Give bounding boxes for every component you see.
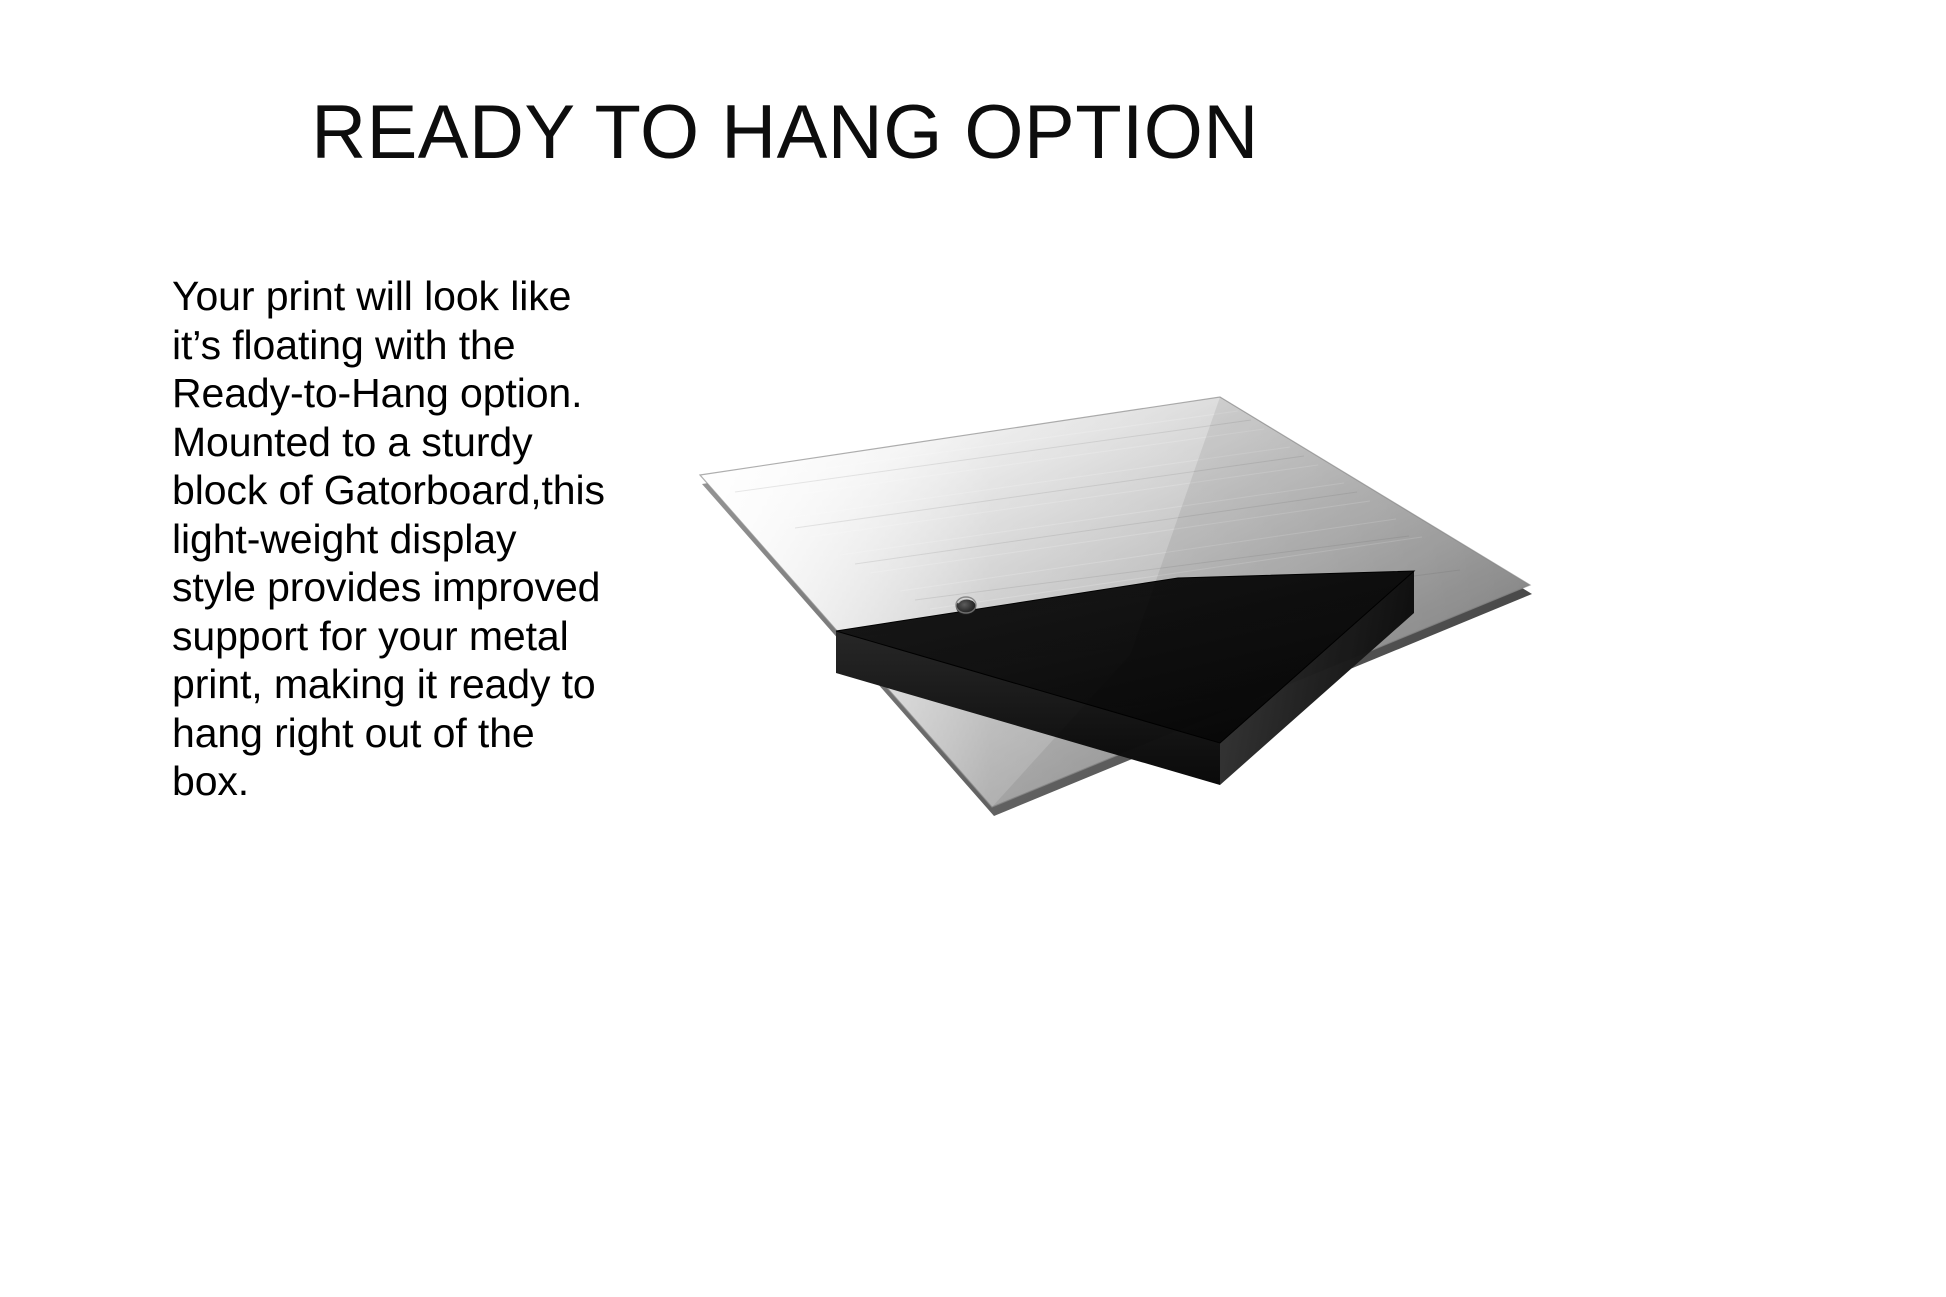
paragraph-line: box.: [172, 757, 642, 806]
slide-canvas: READY TO HANG OPTION Your print will loo…: [0, 0, 1946, 1297]
paragraph-line: support for your metal: [172, 612, 642, 661]
paragraph-line: it’s floating with the: [172, 321, 642, 370]
metal-print-on-gatorboard-photo: [660, 355, 1560, 855]
description-paragraph: Your print will look like it’s floating …: [172, 272, 642, 806]
paragraph-line: hang right out of the: [172, 709, 642, 758]
paragraph-line: Ready-to-Hang option.: [172, 369, 642, 418]
paragraph-line: block of Gatorboard,this: [172, 466, 642, 515]
paragraph-line: light-weight display: [172, 515, 642, 564]
paragraph-line: print, making it ready to: [172, 660, 642, 709]
page-title: READY TO HANG OPTION: [0, 88, 1570, 178]
paragraph-line: Mounted to a sturdy: [172, 418, 642, 467]
paragraph-line: style provides improved: [172, 563, 642, 612]
paragraph-line: Your print will look like: [172, 272, 642, 321]
hanging-hole: [956, 597, 976, 615]
